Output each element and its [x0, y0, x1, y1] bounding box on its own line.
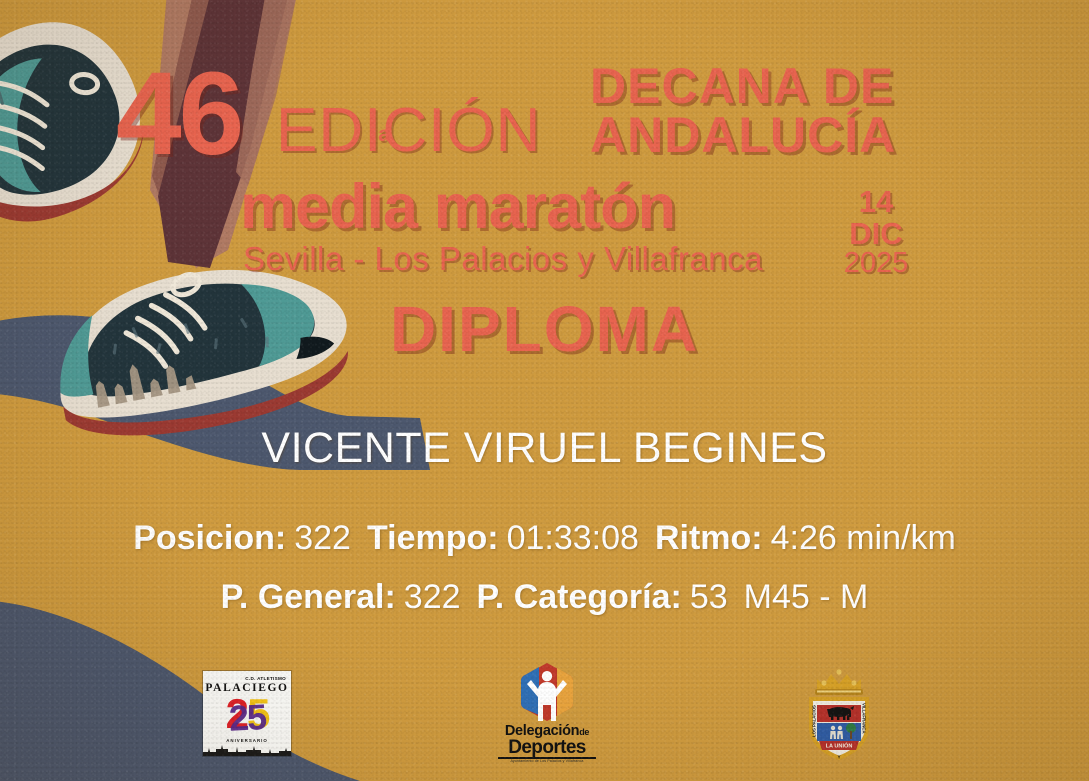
event-name: media maratón	[240, 176, 675, 239]
escudo-ring-right: VILLAFRANCA	[862, 703, 867, 734]
results-row-primary: Posicion:322Tiempo:01:33:08Ritmo:4:26 mi…	[0, 519, 1089, 558]
category-position-value: 53	[690, 578, 728, 616]
category-value: M45 - M	[744, 578, 869, 616]
time-label: Tiempo:	[367, 519, 499, 557]
logo-palaciego-25: C.D. ATLETISMO PALACIEGO 25 25 ANIVERSAR…	[203, 671, 291, 756]
edition-number: 46ª	[116, 55, 241, 173]
decana-heading: DECANA DE ANDALUCÍA	[590, 62, 990, 160]
diploma-title: DIPLOMA	[0, 297, 1089, 361]
general-position-value: 322	[404, 578, 461, 616]
deportes-line-1-small: de	[579, 727, 589, 737]
escudo-ring-bottom: Y	[838, 755, 841, 760]
deportes-line-3: Ayuntamiento de Los Palacios y Villafran…	[495, 759, 599, 763]
general-position-label: P. General:	[221, 578, 396, 616]
edition-number-text: 46	[116, 48, 241, 180]
event-location: Sevilla - Los Palacios y Villafranca	[243, 242, 763, 275]
deportes-line-2: Deportes	[495, 737, 599, 759]
logo-delegacion-deportes: Delegaciónde Deportes Ayuntamiento de Lo…	[495, 663, 599, 763]
date-month: DIC	[836, 218, 916, 250]
position-value: 322	[294, 519, 351, 557]
event-date: 14 DIC 2025	[836, 186, 916, 279]
escudo-ring-left: LOS PALACIOS	[812, 705, 817, 737]
date-day: 14	[836, 186, 916, 218]
palaciego-club-prefix: C.D. ATLETISMO	[245, 676, 286, 681]
time-value: 01:33:08	[507, 519, 639, 557]
pace-label: Ritmo:	[655, 519, 763, 557]
edition-word: EDICIÓN	[276, 100, 541, 162]
date-year: 2025	[836, 249, 916, 279]
palaciego-number-shadow: 25	[228, 696, 266, 740]
logo-escudo-municipal: LA UNIÓN LOS PALACIOS VILLAFRANCA Y	[793, 665, 885, 763]
decana-line-1: DECANA DE	[590, 62, 990, 111]
sponsor-logos: C.D. ATLETISMO PALACIEGO 25 25 ANIVERSAR…	[0, 663, 1089, 768]
pace-value: 4:26 min/km	[771, 519, 956, 557]
runner-name: VICENTE VIRUEL BEGINES	[0, 424, 1089, 473]
results-row-secondary: P. General:322P. Categoría:53M45 - M	[0, 578, 1089, 617]
category-position-label: P. Categoría:	[477, 578, 682, 616]
crown-icon	[815, 669, 863, 695]
diploma-poster: 46ª EDICIÓN DECANA DE ANDALUCÍA media ma…	[0, 0, 1089, 781]
decana-line-2: ANDALUCÍA	[590, 111, 990, 160]
palaciego-skyline-icon	[203, 743, 291, 756]
deportes-hex-icon	[521, 663, 573, 721]
escudo-motto: LA UNIÓN	[826, 741, 853, 749]
position-label: Posicion:	[133, 519, 286, 557]
